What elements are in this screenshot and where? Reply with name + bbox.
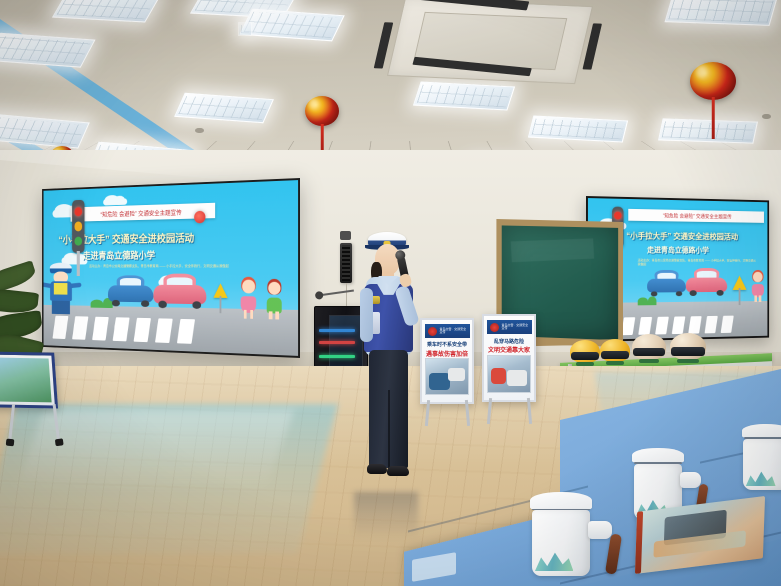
girl-leg [244,310,247,319]
screen-body-text: 活动主办：青岛市公安局交通警察支队、青岛市教育局 —— 小手拉大手，安全伴我行，… [89,264,240,269]
poster-board-legs [486,398,532,424]
screen-ribbon-text: “知危险 会避险” 交通安全主题宣传 [100,207,181,219]
helmet-strap [677,359,699,363]
ceiling-light-panel [239,9,344,42]
crashed-vehicle-shape [491,368,506,384]
presenter-shoe [367,464,387,474]
presenter-shoe [387,466,409,476]
road-shape [448,368,466,381]
poster-board[interactable]: 青岛交警 · 交通安全宣传 乱穿马路危险 文明交通靠大家 [482,314,536,402]
hanging-lantern-icon [305,96,339,126]
helmet-visor [601,351,629,359]
girl-leg [754,295,756,302]
grass-shape [91,299,104,307]
ceiling-air-conditioner [387,0,593,84]
grass-shape [648,296,656,305]
pink-car-icon [153,274,206,308]
helmet-visor [671,347,704,356]
rack-led-indicator [319,355,355,358]
traffic-light-pole [77,251,80,276]
presenter-traffic-police-officer [356,232,418,504]
board-title-line2: 遇事故伤害加倍 [425,349,469,358]
boy-head [268,282,280,295]
traffic-light-icon [72,200,84,274]
easel-display-board[interactable] [0,351,58,408]
hanging-lantern-icon [690,62,736,100]
car-wheel [158,301,167,308]
board-header-text: 青岛交警 · 交通安全宣传 [502,324,529,331]
mug-lid [530,492,592,510]
warning-sign-pole [739,288,741,305]
mug-handle [680,472,701,488]
ceiling-light-panel [413,81,515,110]
girl-leg [250,310,253,319]
classroom-scene: “知危险 会避险” 交通安全主题宣传 “小手拉大手” 交通安全进校园活动 走进青… [0,0,781,586]
ceiling-light-panel [658,118,758,143]
yellow-helmet [570,340,600,363]
ac-vent [410,0,530,10]
ac-vent [582,23,602,69]
girl-pedestrian-icon [238,280,258,319]
ceramic-mug[interactable] [742,424,781,490]
blue-car-icon [647,270,686,295]
easel-board-image [0,358,52,403]
mug-lid [632,448,684,463]
easel-legs [8,404,64,444]
car-wheel [112,299,120,306]
screen-ribbon-banner: “知危险 会避险” 交通安全主题宣传 [628,209,764,223]
helmet-visor [633,348,664,357]
grass-shape [638,297,648,305]
mug-handle [588,521,613,539]
ceiling-light-panel [528,115,628,142]
traffic-light-housing [72,200,84,253]
ceiling-light-panel [174,93,274,123]
screen-subtitle: 走进青岛立德路小学 [83,248,155,262]
board-header: 青岛交警 · 交通安全宣传 [487,320,532,334]
helmet-visor [571,352,599,360]
board-title-line1: 乘车时不系安全带 [425,341,469,348]
smoke-detector-icon [762,114,771,119]
boy-leg [269,311,272,319]
warning-sign-pole [220,296,222,313]
car-wheel [651,291,658,297]
cloud-shape [103,198,127,205]
ceiling-light-panel [238,22,252,36]
presenter-left-arm [360,288,373,342]
pink-car-icon [686,268,727,295]
road-shape [507,370,527,385]
ceiling-light-panel [665,0,778,26]
surveillance-camera-icon [340,231,351,240]
board-header: 青岛交警 · 交通安全宣传 [425,324,470,338]
led-screen-left[interactable]: “知危险 会避险” 交通安全主题宣传 “小手拉大手” 交通安全进校园活动 走进青… [42,178,300,358]
board-title-line1: 乱穿马路危险 [487,338,531,345]
board-header-text: 青岛交警 · 交通安全宣传 [440,328,467,335]
chalkboard-glare [511,239,594,263]
warning-sign-icon [733,276,747,290]
poster-board[interactable]: 青岛交警 · 交通安全宣传 乘车时不系安全带 遇事故伤害加倍 [420,318,474,404]
board-illustration [487,355,531,394]
rack-led-indicator [319,329,355,332]
warning-sign-icon [213,283,227,298]
white-helmet [670,333,706,360]
girl-leg [759,295,761,302]
presenter-trousers [369,350,408,468]
police-seal-icon [490,323,499,332]
ceramic-mug[interactable] [530,492,592,576]
mug-lid [742,424,781,438]
smoke-detector-icon [195,128,204,133]
screen-ribbon-text: “知危险 会避险” 交通安全主题宣传 [663,212,732,220]
board-illustration [425,358,469,396]
board-title-line2: 文明交通靠大家 [487,345,531,354]
ac-vent [374,22,394,68]
yellow-helmet [600,339,630,362]
girl-pedestrian-icon [750,272,766,302]
screen-title: “小手拉大手” 交通安全进校园活动 [626,231,738,243]
ceiling-light-panel [52,0,160,23]
police-seal-icon [428,327,437,336]
poster-board-legs [424,400,470,426]
boy-leg [275,311,278,319]
car-wheel [141,300,149,307]
traffic-light-red [614,212,622,220]
boy-pedestrian-icon [264,282,284,320]
white-helmet [632,334,666,360]
rack-led-indicator [319,341,355,344]
traffic-light-green [74,236,82,246]
ceiling-light-panel [0,32,96,67]
traffic-light-yellow [74,221,82,231]
booklet-spine [635,511,643,574]
helmet-strap [639,359,659,363]
helmet-strap [606,361,624,365]
blue-car-icon [108,275,153,305]
car-wheel [192,301,201,308]
wall-speaker-icon [340,243,352,283]
girl-head [242,280,254,293]
screen-subtitle: 走进青岛立德路小学 [647,245,709,256]
traffic-light-red [74,207,82,217]
screen-body-text: 活动主办：青岛市公安局交通警察支队、青岛市教育局 —— 小手拉大手，安全伴我行，… [638,258,757,266]
